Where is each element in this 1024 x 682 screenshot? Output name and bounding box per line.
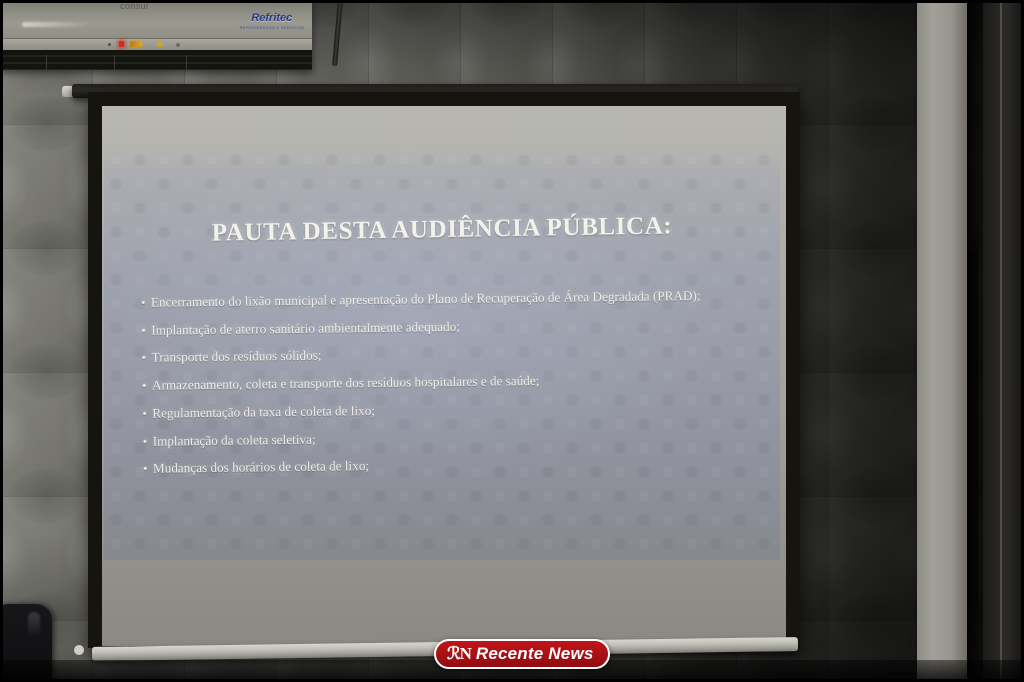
list-item-text: Transporte dos resíduos sólidos; [152, 342, 758, 368]
projected-slide: PAUTA DESTA AUDIÊNCIA PÚBLICA: • Encerra… [104, 148, 780, 560]
chair-highlight [28, 612, 40, 638]
bullet-dot-icon: • [141, 294, 151, 313]
service-sticker-subtitle: REFRIGERACAO E SERVICOS [240, 26, 304, 30]
service-sticker: Refritec REFRIGERACAO E SERVICOS [240, 9, 304, 30]
list-item: • Armazenamento, coleta e transporte dos… [142, 369, 758, 395]
bullet-dot-icon: • [141, 321, 151, 340]
list-item: • Regulamentação da taxa de coleta de li… [142, 397, 758, 423]
column-shadow-edge [967, 0, 983, 682]
bullet-dot-icon: • [143, 460, 153, 479]
list-item: • Implantação da coleta seletiva; [143, 425, 759, 451]
power-led-red-icon [119, 41, 124, 47]
bullet-dot-icon: • [142, 349, 152, 368]
photo-scene: consul Refritec REFRIGERACAO E SERVICOS … [0, 0, 1024, 682]
list-item: • Mudanças dos horários de coleta de lix… [143, 453, 759, 479]
air-conditioner-control-strip [0, 38, 312, 50]
list-item: • Implantação de aterro sanitário ambien… [141, 314, 757, 340]
display-amber-icon [130, 41, 142, 47]
list-item-text: Armazenamento, coleta e transporte dos r… [152, 369, 758, 395]
list-item-text: Implantação de aterro sanitário ambienta… [151, 314, 757, 340]
watermark-monogram-icon: ℛN [447, 645, 471, 662]
bullet-dot-icon: • [143, 432, 153, 451]
bullet-dot-icon: • [142, 377, 152, 396]
air-conditioner-brand-label: consul [120, 1, 148, 11]
list-item: • Transporte dos resíduos sólidos; [142, 342, 758, 368]
list-item-text: Implantação da coleta seletiva; [153, 425, 759, 451]
watermark-label: Recente News [476, 645, 594, 662]
list-item-text: Encerramento do lixão municipal e aprese… [151, 286, 757, 312]
door-frame-line [1000, 0, 1002, 682]
wall-column [917, 0, 967, 682]
bullet-dot-icon: • [142, 405, 152, 424]
air-conditioner-unit: consul Refritec REFRIGERACAO E SERVICOS [0, 0, 312, 70]
service-sticker-name: Refritec [251, 12, 292, 24]
vent-seam-left [46, 55, 47, 70]
slide-bullet-list: • Encerramento do lixão municipal e apre… [141, 286, 759, 488]
watermark-badge: ℛN Recente News [434, 639, 610, 669]
vent-seam-right [186, 55, 187, 70]
control-dot-left [108, 43, 111, 46]
doorway-recess [983, 0, 1024, 682]
list-item-text: Mudanças dos horários de coleta de lixo; [153, 453, 759, 479]
slide-content: PAUTA DESTA AUDIÊNCIA PÚBLICA: • Encerra… [104, 148, 780, 560]
list-item-text: Regulamentação da taxa de coleta de lixo… [152, 397, 758, 423]
status-led-yellow-icon [158, 41, 162, 47]
vent-seam-mid [114, 55, 115, 70]
control-dot-right [176, 43, 180, 47]
screen-bar-end-knob [74, 645, 84, 655]
faceplate-highlight [22, 22, 92, 27]
slide-title: PAUTA DESTA AUDIÊNCIA PÚBLICA: [104, 211, 780, 250]
list-item: • Encerramento do lixão municipal e apre… [141, 286, 757, 312]
